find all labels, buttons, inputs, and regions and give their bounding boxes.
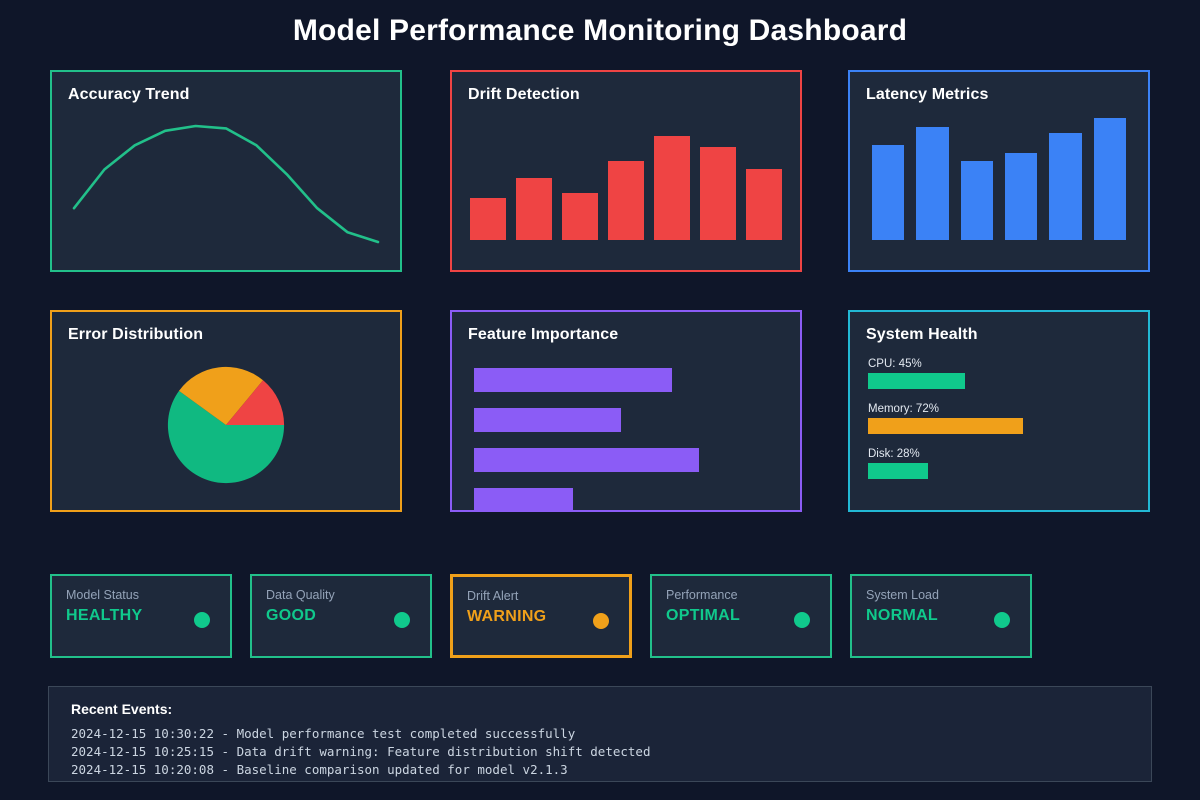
events-title: Recent Events: (71, 701, 1151, 717)
health-metric-track (868, 373, 1083, 389)
health-body: CPU: 45%Memory: 72%Disk: 28% (850, 350, 1148, 510)
error-distribution-pie-chart (165, 364, 287, 486)
accuracy-line-path (74, 126, 378, 242)
status-card-system-load[interactable]: System LoadNORMAL (850, 574, 1032, 658)
page-title: Model Performance Monitoring Dashboard (0, 0, 1200, 60)
health-metric: Disk: 28% (868, 448, 1148, 479)
panel-drift-detection[interactable]: Drift Detection (450, 70, 802, 272)
recent-events-panel[interactable]: Recent Events: 2024-12-15 10:30:22 - Mod… (48, 686, 1152, 782)
feature-bar (474, 368, 672, 392)
feature-bar (474, 448, 699, 472)
panel-feature-importance[interactable]: Feature Importance (450, 310, 802, 512)
feature-bar (474, 408, 621, 432)
latency-metrics-bar-chart (850, 110, 1148, 270)
panel-row-top: Accuracy Trend Drift Detection Latency M… (0, 70, 1200, 280)
health-metric-track (868, 463, 1083, 479)
bar (916, 127, 948, 240)
status-card-label: Performance (666, 588, 816, 602)
bar (470, 198, 506, 241)
health-metric-label: CPU: 45% (868, 358, 1148, 370)
drift-chart-body (452, 110, 800, 270)
status-card-data-quality[interactable]: Data QualityGOOD (250, 574, 432, 658)
panel-accuracy-trend[interactable]: Accuracy Trend (50, 70, 402, 272)
error-chart-body (52, 350, 400, 510)
status-card-row: Model StatusHEALTHYData QualityGOODDrift… (50, 574, 1032, 658)
health-metric: Memory: 72% (868, 403, 1148, 434)
status-card-performance[interactable]: PerformanceOPTIMAL (650, 574, 832, 658)
health-metric: CPU: 45% (868, 358, 1148, 389)
status-card-label: System Load (866, 588, 1016, 602)
status-indicator-dot (994, 612, 1010, 628)
status-card-drift-alert[interactable]: Drift AlertWARNING (450, 574, 632, 658)
bar (961, 161, 993, 240)
panel-title-error: Error Distribution (52, 312, 400, 344)
health-metric-fill (868, 418, 1023, 434)
bar (872, 145, 904, 240)
panel-title-accuracy: Accuracy Trend (52, 72, 400, 104)
latency-chart-body (850, 110, 1148, 270)
feature-chart-body (452, 350, 800, 510)
bar (746, 169, 782, 240)
bar (700, 147, 736, 240)
panel-grid: Accuracy Trend Drift Detection Latency M… (0, 70, 1200, 520)
bar (516, 178, 552, 241)
bar (562, 193, 598, 240)
status-indicator-dot (794, 612, 810, 628)
accuracy-chart-body (52, 110, 400, 270)
panel-latency-metrics[interactable]: Latency Metrics (848, 70, 1150, 272)
status-card-label: Data Quality (266, 588, 416, 602)
health-metric-fill (868, 373, 965, 389)
status-card-model-status[interactable]: Model StatusHEALTHY (50, 574, 232, 658)
accuracy-trend-line-chart (52, 110, 400, 270)
events-list: 2024-12-15 10:30:22 - Model performance … (71, 725, 1151, 779)
system-health-metrics: CPU: 45%Memory: 72%Disk: 28% (850, 350, 1148, 479)
drift-detection-bar-chart (452, 110, 800, 270)
health-metric-label: Memory: 72% (868, 403, 1148, 415)
bar (1049, 133, 1081, 241)
health-metric-track (868, 418, 1083, 434)
panel-system-health[interactable]: System Health CPU: 45%Memory: 72%Disk: 2… (848, 310, 1150, 512)
event-line: 2024-12-15 10:25:15 - Data drift warning… (71, 743, 1151, 761)
panel-title-drift: Drift Detection (452, 72, 800, 104)
panel-title-latency: Latency Metrics (850, 72, 1148, 104)
status-indicator-dot (394, 612, 410, 628)
pie-wrapper (52, 350, 400, 510)
event-line: 2024-12-15 10:30:22 - Model performance … (71, 725, 1151, 743)
panel-title-feature: Feature Importance (452, 312, 800, 344)
feature-importance-bar-chart (452, 350, 800, 512)
panel-error-distribution[interactable]: Error Distribution (50, 310, 402, 512)
health-metric-label: Disk: 28% (868, 448, 1148, 460)
bar (654, 136, 690, 240)
bar (608, 161, 644, 240)
event-line: 2024-12-15 10:20:08 - Baseline compariso… (71, 761, 1151, 779)
bar (1094, 118, 1126, 240)
bar (1005, 153, 1037, 240)
panel-title-health: System Health (850, 312, 1148, 344)
status-indicator-dot (194, 612, 210, 628)
status-indicator-dot (593, 613, 609, 629)
health-metric-fill (868, 463, 928, 479)
panel-row-bottom: Error Distribution Feature Importance Sy… (0, 310, 1200, 520)
status-card-label: Model Status (66, 588, 216, 602)
status-card-label: Drift Alert (467, 589, 615, 603)
feature-bar (474, 488, 573, 512)
